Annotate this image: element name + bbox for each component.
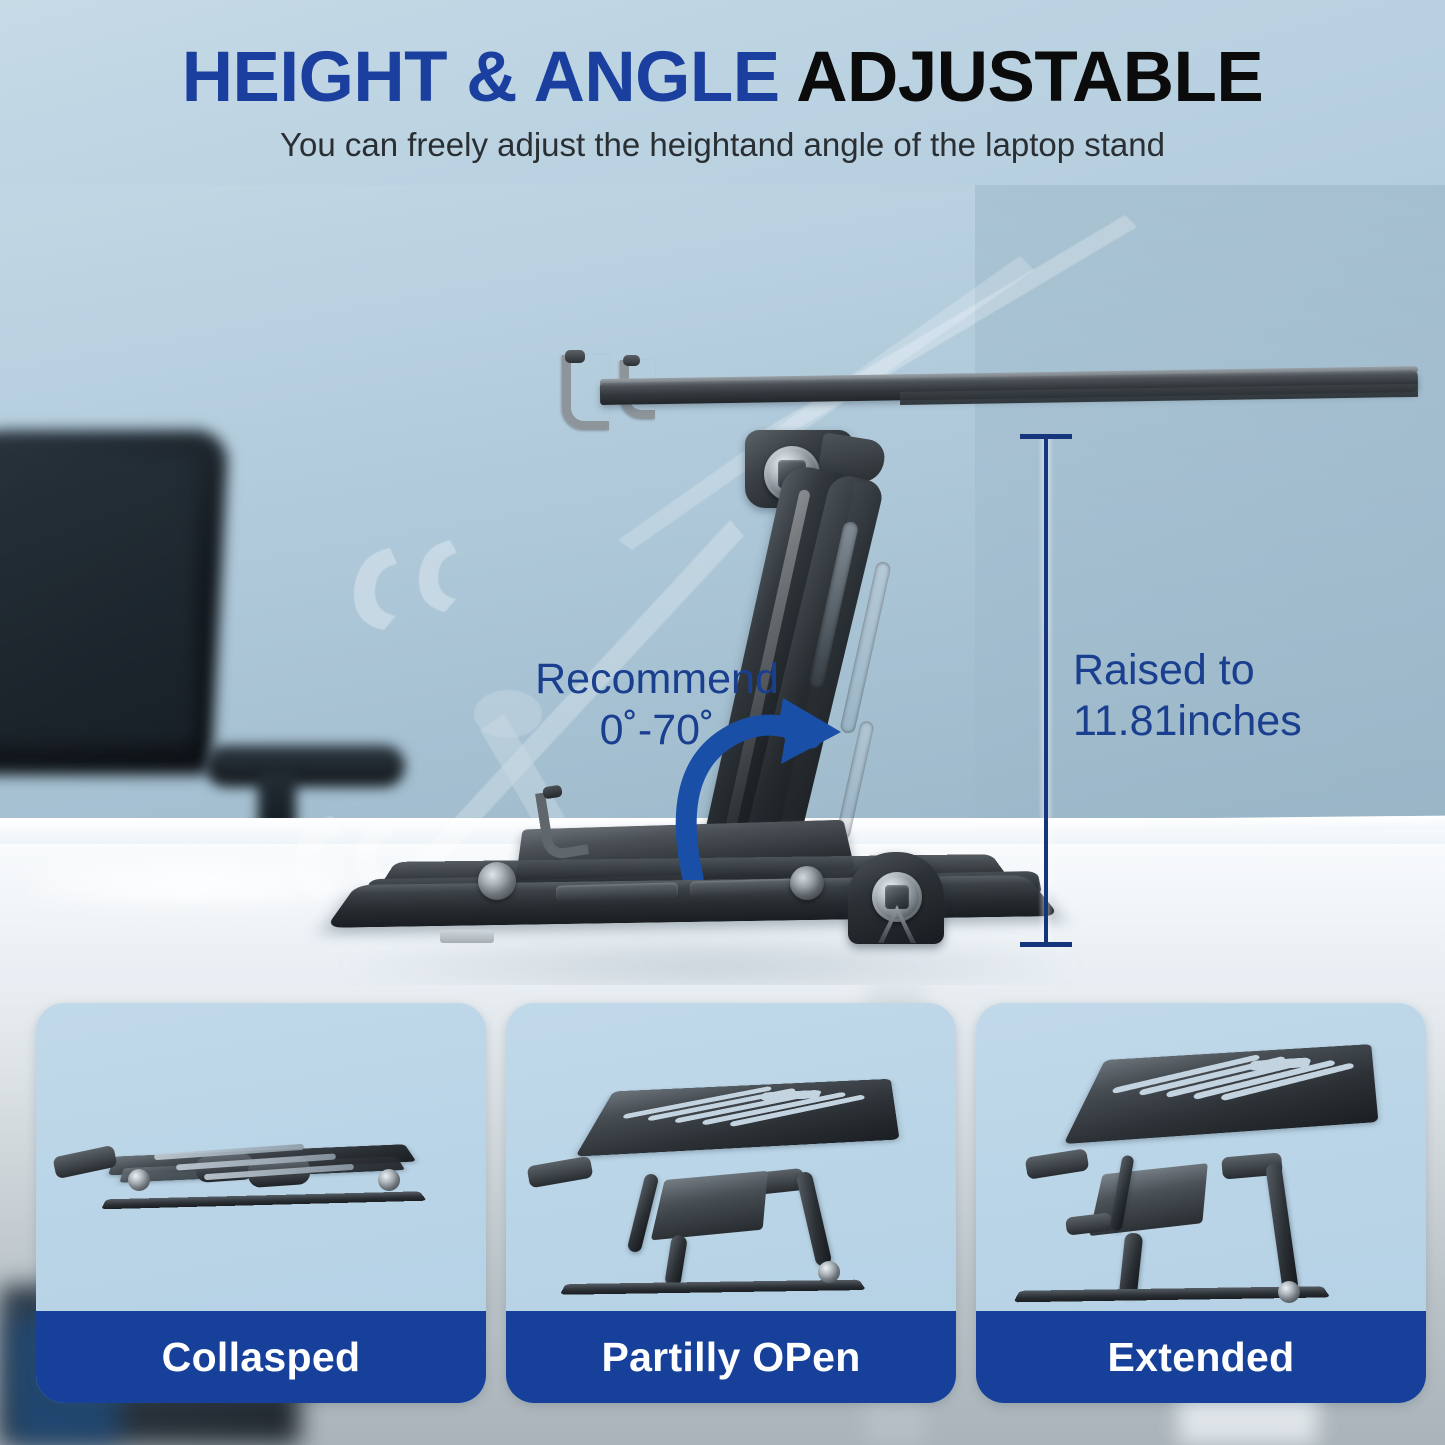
- panel-extended-image: [976, 1003, 1426, 1311]
- rotation-arrow-icon: [655, 690, 870, 880]
- mini-base-plate: [101, 1191, 427, 1209]
- raised-annotation: Raised to 11.81inches: [1073, 645, 1302, 746]
- mini-bolt-left: [128, 1169, 150, 1191]
- mini-arm-right: [1265, 1163, 1299, 1294]
- panel-collapsed-label: Collasped: [36, 1311, 486, 1403]
- state-panels-section: Collasped: [0, 985, 1445, 1445]
- page-title: HEIGHT & ANGLE ADJUSTABLE: [0, 42, 1445, 113]
- header: HEIGHT & ANGLE ADJUSTABLE You can freely…: [0, 0, 1445, 185]
- base-slat-2: [690, 878, 800, 896]
- infographic-root: Recommend 0˚-70˚ Raised to 11.81inches: [0, 0, 1445, 1445]
- mini-pivot-bolt: [818, 1261, 840, 1283]
- panel-partially-open-image: [506, 1003, 956, 1311]
- mini-bolt-right: [378, 1169, 400, 1191]
- platform-hook-rear-cap: [623, 355, 640, 366]
- mini-top-plate: [1063, 1044, 1378, 1144]
- mini-base-plate: [560, 1280, 866, 1295]
- measurement-line: [1044, 435, 1048, 947]
- mini-front-lip: [52, 1145, 117, 1179]
- measurement-tick-bottom: [1020, 942, 1072, 947]
- panel-collapsed-image: [36, 1003, 486, 1311]
- base-hinge-left: [478, 862, 516, 900]
- mini-front-lip-left: [1025, 1148, 1090, 1179]
- mini-top-plate: [575, 1079, 899, 1157]
- raised-label-line1: Raised to: [1073, 646, 1255, 694]
- base-foot-pad: [440, 930, 494, 943]
- platform-hook-front-cap: [565, 350, 585, 363]
- measurement-tick-top: [1020, 434, 1072, 439]
- mini-front-lip-left: [527, 1156, 594, 1189]
- panel-collapsed[interactable]: Collasped: [36, 1003, 486, 1403]
- mini-center-post: [664, 1234, 688, 1288]
- panel-extended[interactable]: Extended: [976, 1003, 1426, 1403]
- page-title-black: ADJUSTABLE: [796, 38, 1263, 117]
- mini-support-tray: [651, 1171, 768, 1241]
- panel-extended-label: Extended: [976, 1311, 1426, 1403]
- mini-arm-left: [627, 1172, 660, 1253]
- mini-pivot-bolt: [1278, 1281, 1300, 1303]
- raised-label-line2: 11.81inches: [1073, 696, 1302, 747]
- panel-partially-open[interactable]: Partilly OPen: [506, 1003, 956, 1403]
- mini-arm-right: [795, 1170, 832, 1267]
- panel-partially-open-label: Partilly OPen: [506, 1311, 956, 1403]
- page-title-blue: HEIGHT & ANGLE: [182, 38, 796, 117]
- page-subtitle: You can freely adjust the heightand angl…: [0, 128, 1445, 161]
